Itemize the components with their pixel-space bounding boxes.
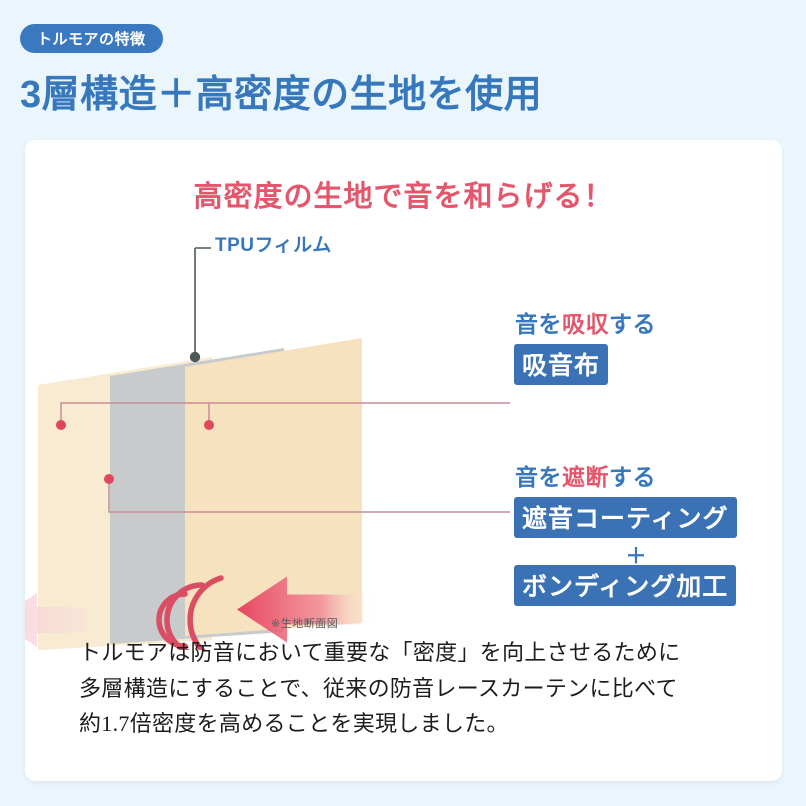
absorb-dot-front-layer xyxy=(204,420,214,430)
tpu-leader-dot xyxy=(190,352,200,362)
page-title: 3層構造＋高密度の生地を使用 xyxy=(20,63,542,118)
section-note-label: ※生地断面図 xyxy=(271,615,338,631)
feature-badge-label: トルモアの特徴 xyxy=(37,28,146,49)
feature-badge: トルモアの特徴 xyxy=(20,24,163,53)
block-bonding-box: ボンディング加工 xyxy=(514,565,736,606)
absorb-caption-highlight: 吸収 xyxy=(562,311,609,337)
absorb-dot-back-layer xyxy=(56,420,66,430)
tpu-film-label: TPUフィルム xyxy=(215,230,332,257)
absorb-caption: 音を吸収する xyxy=(515,305,656,339)
description-line-2: 多層構造にすることで、従来の防音レースカーテンに比べて xyxy=(79,671,739,707)
description-line-1: トルモアは防音において重要な「密度」を向上させるために xyxy=(79,635,739,671)
absorb-material-box: 吸音布 xyxy=(514,344,608,385)
feature-card: 高密度の生地で音を和らげる！ xyxy=(25,140,782,781)
block-caption: 音を遮断する xyxy=(515,458,656,492)
absorb-caption-prefix: 音を xyxy=(515,311,562,337)
block-caption-highlight: 遮断 xyxy=(562,464,609,490)
block-coating-box: 遮音コーティング xyxy=(514,497,737,538)
block-dot-tpu-layer xyxy=(104,474,114,484)
block-caption-suffix: する xyxy=(609,464,656,490)
card-heading: 高密度の生地で音を和らげる！ xyxy=(25,173,782,215)
description-line-3: 約1.7倍密度を高めることを実現しました。 xyxy=(79,706,739,742)
absorb-caption-suffix: する xyxy=(609,311,656,337)
description-paragraph: トルモアは防音において重要な「密度」を向上させるために 多層構造にすることで、従… xyxy=(79,635,739,742)
block-caption-prefix: 音を xyxy=(515,464,562,490)
